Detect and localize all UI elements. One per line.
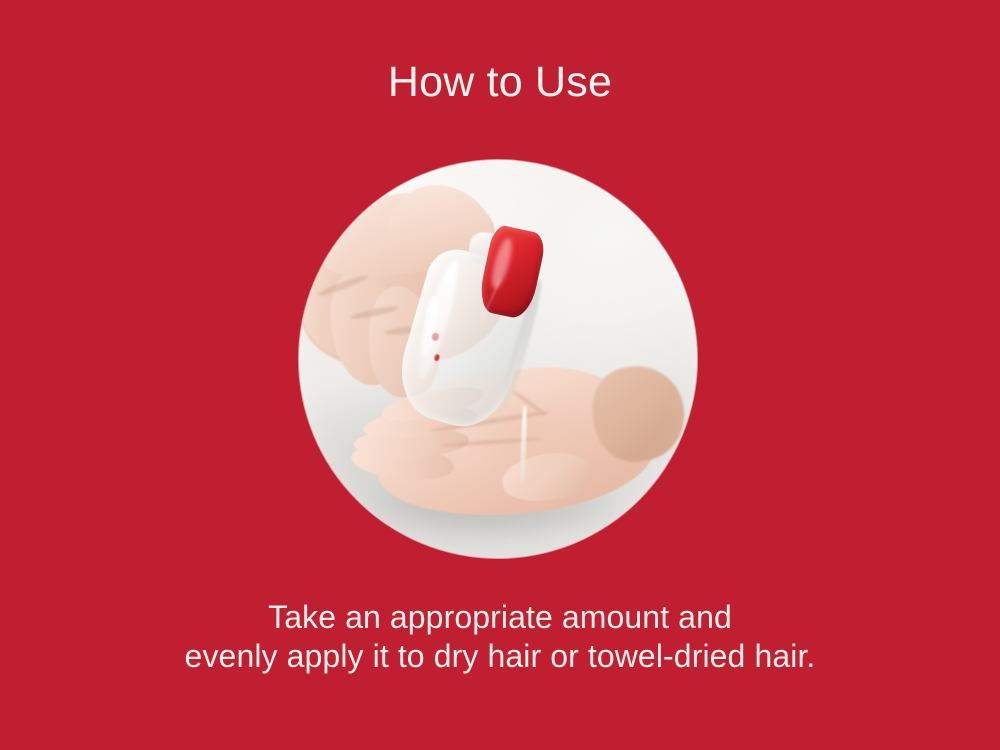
- product-stream: [520, 406, 527, 485]
- page-title: How to Use: [0, 57, 1000, 107]
- caption-line-2: evenly apply it to dry hair or towel-dri…: [0, 637, 1000, 676]
- instruction-caption: Take an appropriate amount and evenly ap…: [0, 598, 1000, 676]
- caption-line-1: Take an appropriate amount and: [0, 598, 1000, 637]
- how-to-use-slide: How to Use: [0, 0, 1000, 750]
- instruction-photo: [299, 160, 697, 558]
- photo-backdrop: [299, 160, 697, 558]
